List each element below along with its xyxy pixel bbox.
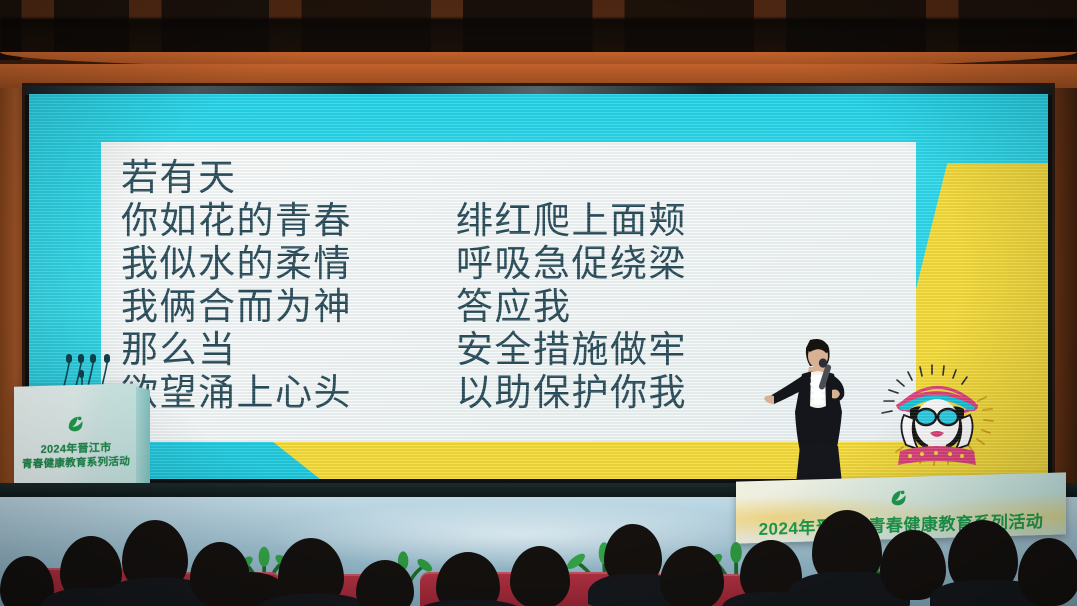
green-sprout-logo-icon [65, 413, 87, 436]
ceiling-dark-band [0, 18, 1077, 56]
green-sprout-logo-icon [888, 487, 910, 510]
poem-column-right: 绯红爬上面颊 呼吸急促绕梁 答应我 安全措施做牢 以助保护你我 [456, 156, 786, 436]
led-screen: 若有天 你如花的青春 我似水的柔情 我俩合而为神 那么当 欲望涌上心头 绯红爬上… [25, 86, 1052, 483]
gooseneck-microphones-icon [58, 352, 120, 388]
auditorium-scene: 若有天 你如花的青春 我似水的柔情 我俩合而为神 那么当 欲望涌上心头 绯红爬上… [0, 0, 1077, 606]
podium-title-line2: 青春健康教育系列活动 [14, 453, 138, 471]
pop-art-woman-icon [866, 353, 1006, 473]
screen-frame-top [0, 64, 1077, 88]
poem-column-left: 若有天 你如花的青春 我似水的柔情 我俩合而为神 那么当 欲望涌上心头 [121, 156, 456, 436]
audience-head [1018, 538, 1077, 606]
speaker-person [762, 334, 874, 502]
presentation-slide: 若有天 你如花的青春 我似水的柔情 我俩合而为神 那么当 欲望涌上心头 绯红爬上… [29, 94, 1048, 479]
